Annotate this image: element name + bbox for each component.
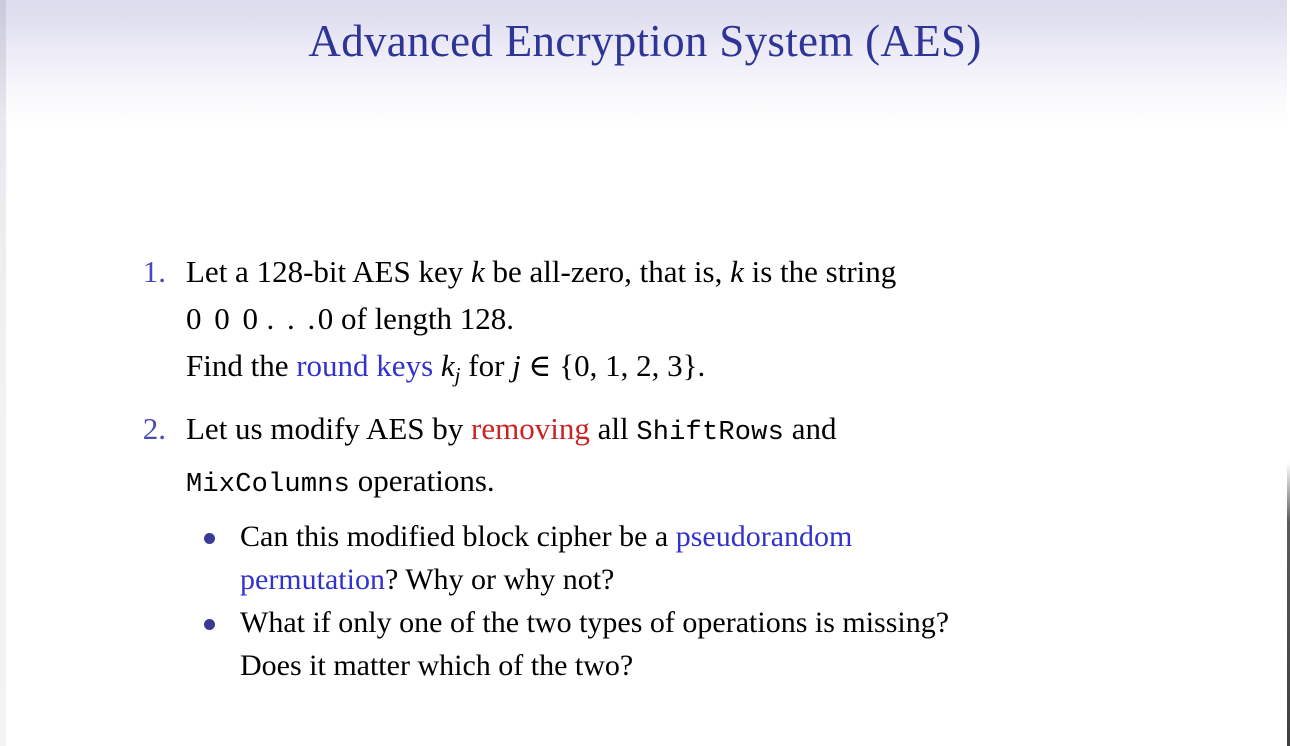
math-set-membership: ∈ {0, 1, 2, 3}.: [521, 348, 705, 383]
text-line: 0 0 0. . .0 of length 128.: [186, 295, 1210, 342]
text-fragment: Find the: [186, 348, 296, 383]
text-line: Does it matter which of the two?: [240, 644, 1210, 687]
bullet-item-1: Can this modified block cipher be a pseu…: [199, 515, 1210, 601]
list-number-1: 1.: [120, 248, 166, 295]
text-line: Let a 128-bit AES key k be all-zero, tha…: [186, 248, 1210, 295]
text-fragment: operations.: [350, 463, 495, 498]
math-variable-k: k: [441, 348, 455, 383]
text-fragment: for: [461, 348, 513, 383]
text-fragment: Let us modify AES by: [186, 411, 471, 446]
bullet-item-2: What if only one of the two types of ope…: [199, 601, 1210, 687]
math-variable-k: k: [471, 254, 485, 289]
text-line: What if only one of the two types of ope…: [240, 601, 1210, 644]
text-fragment: [433, 348, 441, 383]
text-line: Let us modify AES by removing all ShiftR…: [186, 405, 1210, 457]
highlight-removing: removing: [471, 411, 590, 446]
bullet-list: Can this modified block cipher be a pseu…: [186, 515, 1210, 687]
math-zeros: 0 0 0: [186, 301, 261, 336]
list-item-2: 2. Let us modify AES by removing all Shi…: [120, 405, 1210, 687]
text-line: Find the round keys kj for j ∈ {0, 1, 2,…: [186, 342, 1210, 399]
text-fragment: Let a 128-bit AES key: [186, 254, 471, 289]
list-number-2: 2.: [120, 405, 166, 452]
math-zero-last: 0: [318, 301, 334, 336]
list-item-1: 1. Let a 128-bit AES key k be all-zero, …: [120, 248, 1210, 399]
page-edge-left: [0, 0, 6, 746]
bullet-dot-icon: [204, 533, 215, 544]
text-fragment: is the string: [744, 254, 896, 289]
text-fragment: What if only one of the two types of ope…: [240, 606, 949, 639]
code-mixcolumns: MixColumns: [186, 470, 350, 500]
slide-body: 1. Let a 128-bit AES key k be all-zero, …: [120, 248, 1210, 687]
text-fragment: and: [784, 411, 837, 446]
text-fragment: be all-zero, that is,: [485, 254, 730, 289]
bullet-dot-icon: [204, 619, 215, 630]
highlight-permutation: permutation: [240, 563, 385, 596]
text-line: Can this modified block cipher be a pseu…: [240, 515, 1210, 558]
math-variable-k: k: [730, 254, 744, 289]
text-fragment: ? Why or why not?: [385, 563, 614, 596]
numbered-list: 1. Let a 128-bit AES key k be all-zero, …: [120, 248, 1210, 687]
math-variable-j: j: [512, 348, 521, 383]
text-line: MixColumns operations.: [186, 457, 1210, 509]
presentation-slide: Advanced Encryption System (AES) 1. Let …: [0, 0, 1290, 746]
highlight-pseudorandom: pseudorandom: [676, 520, 853, 553]
text-fragment: of length 128.: [333, 301, 514, 336]
text-fragment: Can this modified block cipher be a: [240, 520, 676, 553]
slide-title: Advanced Encryption System (AES): [0, 17, 1290, 67]
text-fragment: all: [590, 411, 637, 446]
text-fragment: Does it matter which of the two?: [240, 649, 633, 682]
text-line: permutation? Why or why not?: [240, 558, 1210, 601]
highlight-round-keys: round keys: [296, 348, 433, 383]
code-shiftrows: ShiftRows: [636, 418, 784, 448]
math-ellipsis: . . .: [267, 301, 318, 336]
